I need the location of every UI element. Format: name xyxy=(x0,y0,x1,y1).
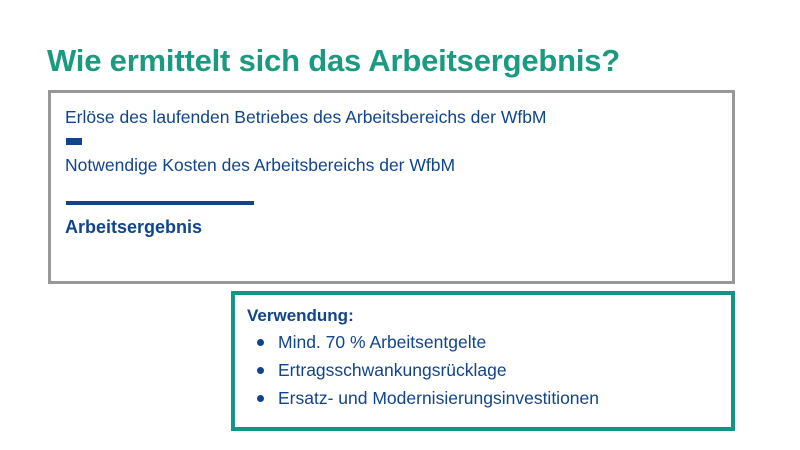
list-item-label: Mind. 70 % Arbeitsentgelte xyxy=(278,332,486,352)
formula-line-costs: Notwendige Kosten des Arbeitsbereichs de… xyxy=(65,154,722,176)
bullet-icon xyxy=(257,339,264,346)
usage-box: Verwendung: Mind. 70 % Arbeitsentgelte E… xyxy=(231,291,735,431)
list-item: Ersatz- und Modernisierungsinvestitionen xyxy=(247,384,725,412)
usage-list: Mind. 70 % Arbeitsentgelte Ertragsschwan… xyxy=(247,328,725,412)
formula-result: Arbeitsergebnis xyxy=(65,215,722,239)
formula-operator-row xyxy=(65,128,722,154)
formula-box: Erlöse des laufenden Betriebes des Arbei… xyxy=(48,90,735,284)
list-item-label: Ersatz- und Modernisierungsinvestitionen xyxy=(278,388,599,408)
usage-heading: Verwendung: xyxy=(247,304,725,328)
slide-root: Wie ermittelt sich das Arbeitsergebnis? … xyxy=(0,0,800,450)
list-item: Mind. 70 % Arbeitsentgelte xyxy=(247,328,725,356)
list-item: Ertragsschwankungsrücklage xyxy=(247,356,725,384)
page-title: Wie ermittelt sich das Arbeitsergebnis? xyxy=(47,42,747,80)
list-item-label: Ertragsschwankungsrücklage xyxy=(278,360,507,380)
formula-line-revenue: Erlöse des laufenden Betriebes des Arbei… xyxy=(65,106,722,128)
usage-content: Verwendung: Mind. 70 % Arbeitsentgelte E… xyxy=(247,304,725,412)
bullet-icon xyxy=(257,395,264,402)
bullet-icon xyxy=(257,367,264,374)
formula-divider xyxy=(66,201,254,205)
minus-icon xyxy=(66,138,82,145)
formula-content: Erlöse des laufenden Betriebes des Arbei… xyxy=(65,106,722,239)
